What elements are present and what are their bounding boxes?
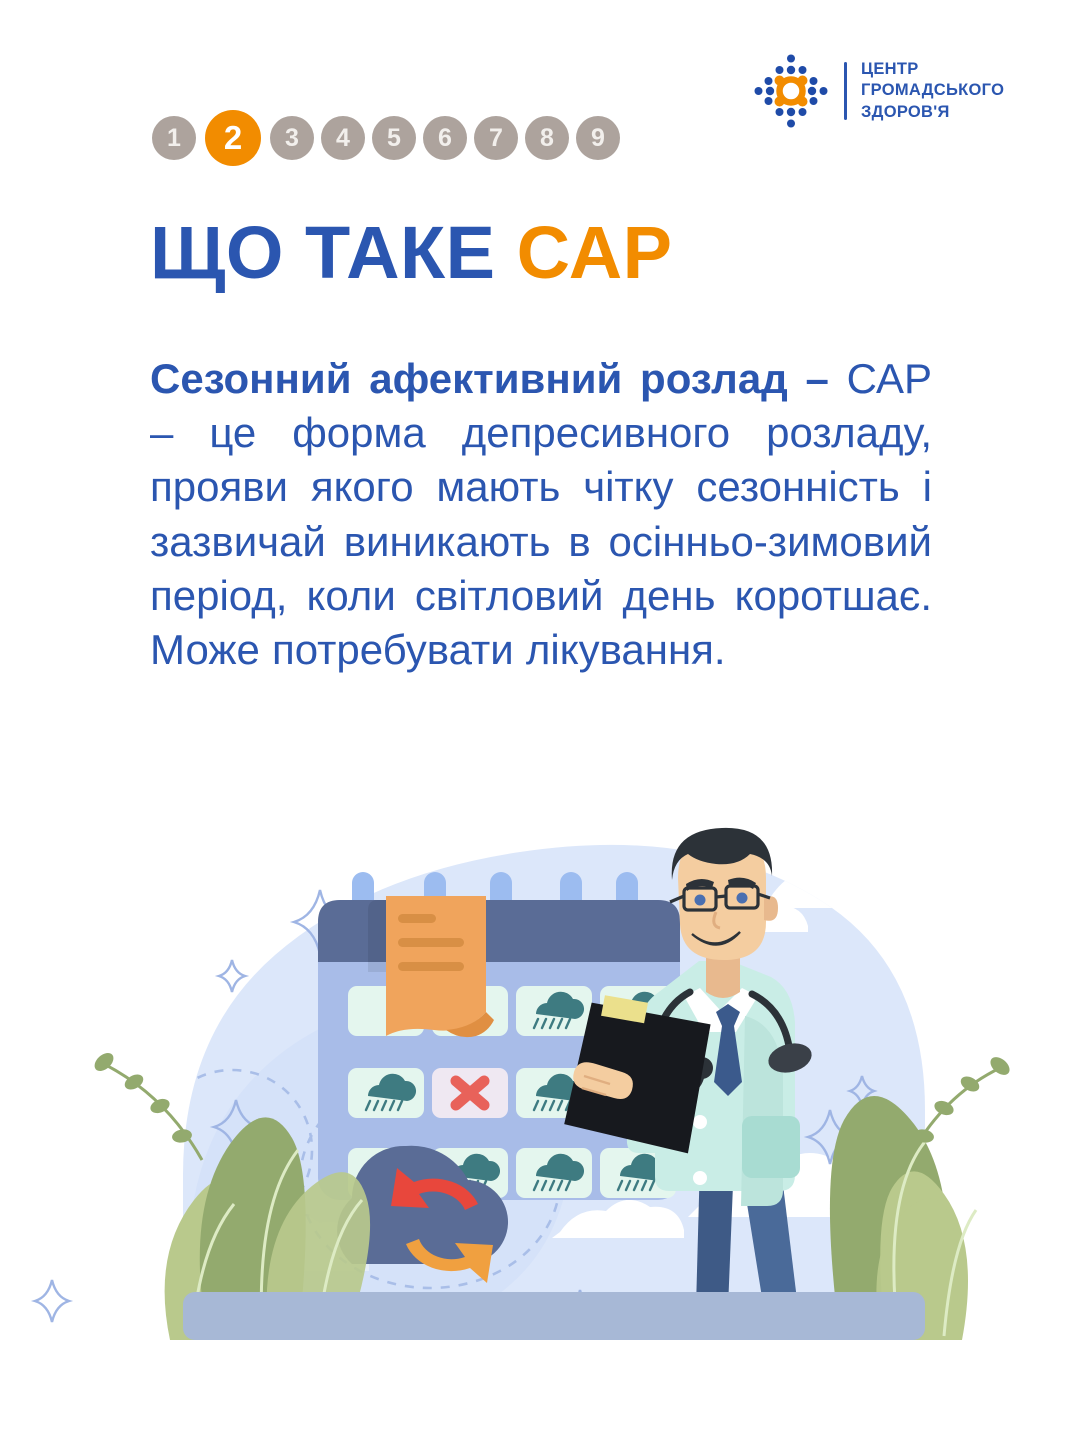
step-item-2[interactable]: 2: [205, 110, 261, 166]
infographic-card: ЦЕНТР ГРОМАДСЬКОГО ЗДОРОВ'Я 1 2 3 4 5 6 …: [0, 0, 1080, 1440]
body-lead: Сезонний афективний розлад –: [150, 355, 847, 402]
logo-wordmark: ЦЕНТР ГРОМАДСЬКОГО ЗДОРОВ'Я: [861, 59, 1004, 122]
step-item-1[interactable]: 1: [152, 116, 196, 160]
page-title: ЩО ТАКЕ САР: [150, 216, 673, 290]
calendar-cell-rain: [516, 986, 592, 1036]
step-item-8[interactable]: 8: [525, 116, 569, 160]
step-item-5[interactable]: 5: [372, 116, 416, 160]
logo: ЦЕНТР ГРОМАДСЬКОГО ЗДОРОВ'Я: [752, 52, 1004, 130]
step-item-9[interactable]: 9: [576, 116, 620, 160]
calendar-cell-rain: [348, 1068, 424, 1118]
illustration: [0, 780, 1080, 1360]
ground-bar: [183, 1292, 925, 1340]
body-rest: САР – це форма депресивного розладу, про…: [150, 355, 932, 673]
sticky-note: [368, 896, 494, 1037]
public-health-center-logo-icon: [752, 52, 830, 130]
step-item-6[interactable]: 6: [423, 116, 467, 160]
step-item-3[interactable]: 3: [270, 116, 314, 160]
body-paragraph: Сезонний афективний розлад – САР – це фо…: [150, 352, 932, 677]
logo-divider: [844, 62, 847, 120]
coat-pocket: [742, 1116, 800, 1178]
step-item-7[interactable]: 7: [474, 116, 518, 160]
calendar-cell-rain: [516, 1148, 592, 1198]
logo-line-3: ЗДОРОВ'Я: [861, 102, 1004, 123]
page-title-main: ЩО ТАКЕ: [150, 211, 517, 294]
logo-line-2: ГРОМАДСЬКОГО: [861, 80, 1004, 101]
step-indicator: 1 2 3 4 5 6 7 8 9: [152, 110, 620, 166]
page-title-accent: САР: [517, 211, 673, 294]
step-item-4[interactable]: 4: [321, 116, 365, 160]
calendar-cell-cross: [432, 1068, 508, 1118]
logo-line-1: ЦЕНТР: [861, 59, 1004, 80]
